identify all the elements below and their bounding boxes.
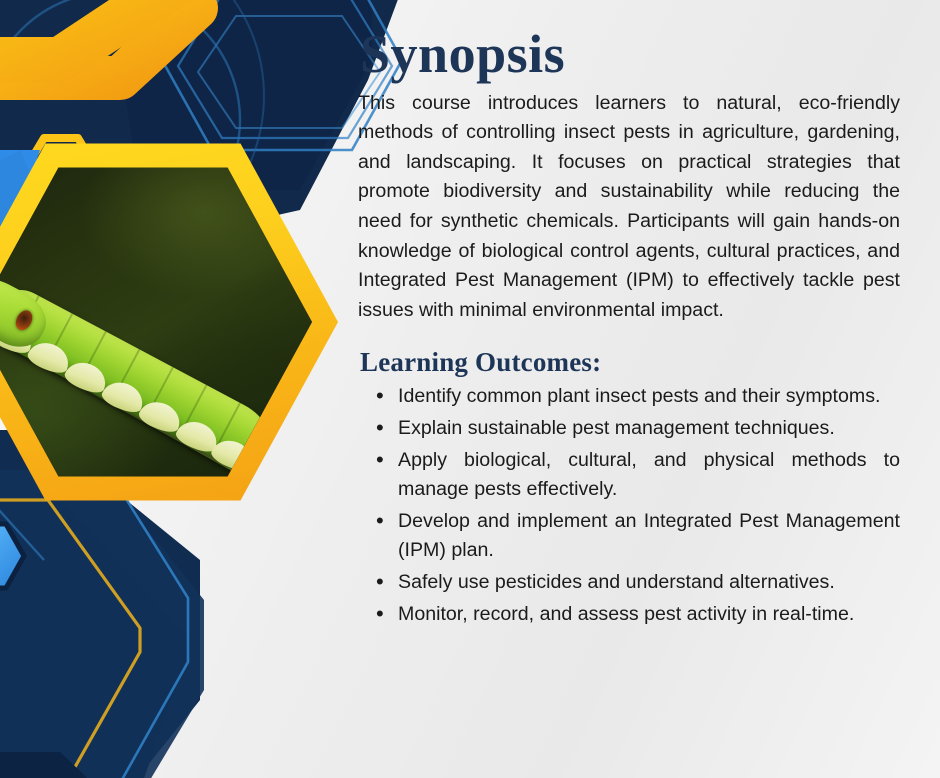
list-item: Develop and implement an Integrated Pest… <box>398 507 900 566</box>
list-item: Safely use pesticides and understand alt… <box>398 568 900 598</box>
list-item: Apply biological, cultural, and physical… <box>398 446 900 505</box>
list-item: Monitor, record, and assess pest activit… <box>398 600 900 630</box>
caterpillar-eyespot <box>13 308 36 334</box>
list-item: Identify common plant insect pests and t… <box>398 382 900 412</box>
slide-canvas: Synopsis This course introduces learners… <box>0 0 940 778</box>
learning-outcomes-list: Identify common plant insect pests and t… <box>358 382 900 629</box>
content-column: Synopsis This course introduces learners… <box>358 26 900 631</box>
navy-hex-shape-bottom3 <box>0 470 204 778</box>
learning-outcomes-heading: Learning Outcomes: <box>360 347 900 378</box>
caterpillar-photo-frame <box>0 136 338 508</box>
page-title: Synopsis <box>360 26 900 83</box>
synopsis-paragraph: This course introduces learners to natur… <box>358 89 900 326</box>
list-item: Explain sustainable pest management tech… <box>398 414 900 444</box>
